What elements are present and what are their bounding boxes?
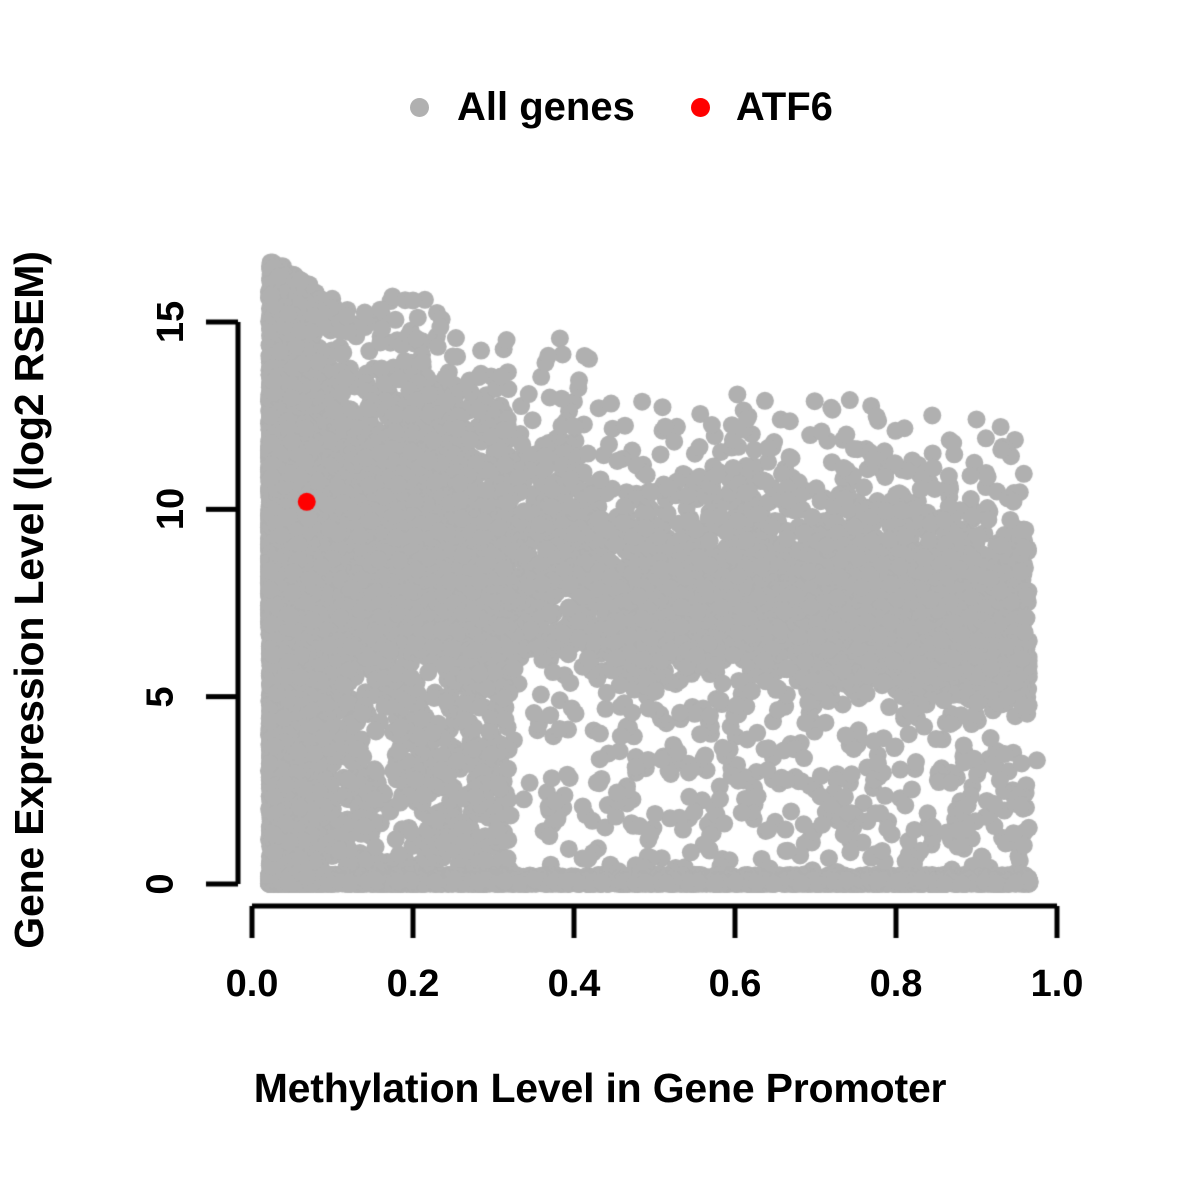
- x-tick-label: 0.4: [548, 965, 601, 1003]
- legend-item-all-genes: All genes: [410, 87, 635, 127]
- y-tick-label: 5: [150, 678, 171, 716]
- x-tick-label: 1.0: [1031, 965, 1084, 1003]
- y-tick-label: 15: [150, 303, 192, 341]
- x-axis-title: Methylation Level in Gene Promoter: [0, 1065, 1200, 1112]
- scatter-plot-canvas: [0, 0, 1200, 1200]
- legend-label-atf6: ATF6: [736, 87, 833, 127]
- scatter-plot-figure: All genes ATF6 Gene Expression Level (lo…: [0, 0, 1200, 1200]
- x-tick-label: 0.8: [870, 965, 923, 1003]
- legend-item-atf6: ATF6: [691, 87, 833, 127]
- legend-label-all-genes: All genes: [457, 87, 635, 127]
- x-tick-label: 0.2: [387, 965, 440, 1003]
- x-tick-label: 0.0: [226, 965, 279, 1003]
- legend-marker-all-genes-icon: [410, 98, 429, 117]
- y-axis-title: Gene Expression Level (log2 RSEM): [0, 0, 58, 1200]
- legend-marker-atf6-icon: [691, 98, 710, 117]
- x-tick-label: 0.6: [709, 965, 762, 1003]
- y-tick-label: 10: [150, 490, 192, 528]
- chart-legend: All genes ATF6: [410, 78, 833, 136]
- y-tick-label: 0: [150, 865, 171, 903]
